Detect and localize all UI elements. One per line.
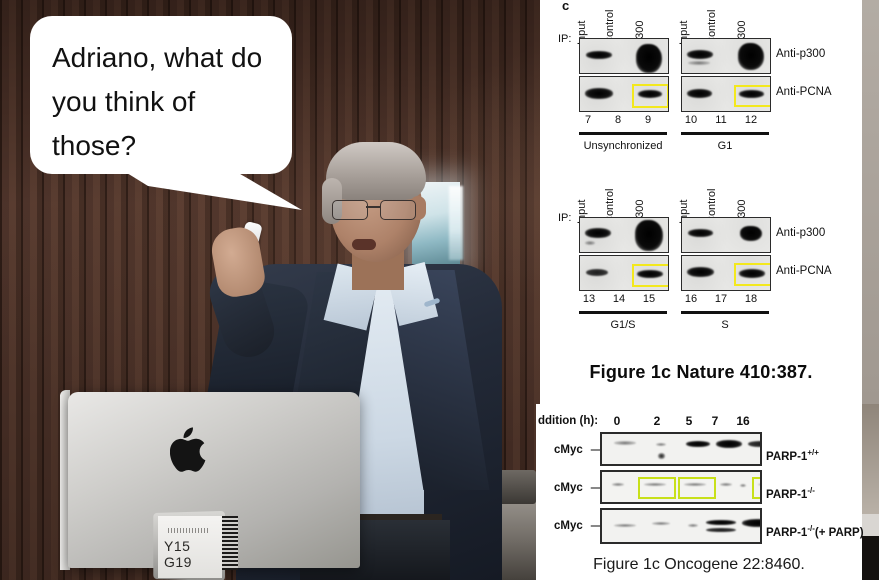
genotype-sup-rescue: -/-: [807, 524, 815, 533]
oncogene-figure-caption: Figure 1c Oncogene 22:8460.: [536, 556, 862, 574]
tag-printed-line: [168, 528, 210, 533]
lane-number-17: 17: [712, 293, 730, 305]
photo-right-rail-dark: [862, 536, 879, 580]
screenshot-root: Y15 G19 Adriano, what do you think of th…: [0, 0, 879, 580]
genotype-sup-ko: -/-: [807, 486, 815, 495]
genotype-label-wt: PARP-1+/+: [766, 448, 819, 463]
probe-label-cmyc-row3: cMyc: [554, 520, 583, 532]
eyeglass-bridge: [366, 206, 380, 208]
probe-label-cmyc-row2: cMyc: [554, 482, 583, 494]
eyeglasses: [332, 200, 420, 218]
genotype-sup-wt: +/+: [807, 448, 819, 457]
timepoint-0: 0: [610, 414, 624, 428]
lane-number-11: 11: [712, 114, 730, 126]
oncogene-figure-slide: ddition (h): 0 2 5 7 16 cMyc ⟶ PARP-1+/+…: [536, 404, 862, 580]
group-bar-s: [681, 311, 769, 314]
photo-right-rail-mid: [862, 404, 879, 514]
lane-number-13: 13: [580, 293, 598, 305]
lane-number-12: 12: [742, 114, 760, 126]
phase-label-unsynchronized: Unsynchronized: [573, 140, 673, 152]
group-bar-g1: [681, 132, 769, 135]
eyeglass-lens-left: [332, 200, 368, 220]
ip-label-row2: IP:: [558, 212, 571, 224]
group-bar-unsync: [579, 132, 667, 135]
highlight-box-lane18: [734, 263, 771, 286]
gel-s-antipcna: [681, 255, 771, 291]
group-bar-g1s: [579, 311, 667, 314]
lane-number-18: 18: [742, 293, 760, 305]
gel-parp-ko: [600, 470, 762, 504]
gel-parp-rescue: [600, 508, 762, 544]
lane-number-8: 8: [610, 114, 626, 126]
gel-g1-antip300: [681, 38, 771, 74]
antibody-label-pcna-row1: Anti-PCNA: [776, 86, 832, 98]
gel-g1s-antipcna: [579, 255, 669, 291]
timepoint-5: 5: [682, 414, 696, 428]
phase-label-g1: G1: [681, 140, 769, 152]
genotype-base-rescue: PARP-1: [766, 527, 807, 539]
timepoint-7: 7: [708, 414, 722, 428]
antibody-label-p300-row2: Anti-p300: [776, 227, 825, 239]
phase-label-s: S: [681, 319, 769, 331]
gel-unsync-antipcna: [579, 76, 669, 112]
highlight-box-ko-3: [752, 477, 762, 499]
lane-number-7: 7: [580, 114, 596, 126]
highlight-box-ko-1: [638, 477, 676, 499]
lane-number-15: 15: [640, 293, 658, 305]
eyeglass-lens-right: [380, 200, 416, 220]
gel-parp-wt: [600, 432, 762, 466]
photo-right-rail-upper: [862, 0, 879, 404]
lane-number-14: 14: [610, 293, 628, 305]
barcode-strip: [222, 516, 238, 570]
gel-g1-antipcna: [681, 76, 771, 112]
lane-number-16: 16: [682, 293, 700, 305]
ip-label-row1: IP:: [558, 33, 571, 45]
lane-number-9: 9: [640, 114, 656, 126]
timepoint-2: 2: [650, 414, 664, 428]
genotype-label-rescue: PARP-1-/-(+ PARP): [766, 524, 864, 539]
photo-right-rail-light: [862, 514, 879, 536]
inventory-tag-code: Y15 G19: [164, 538, 222, 570]
timepoint-axis-label: ddition (h):: [538, 415, 598, 427]
panel-letter-c: c: [562, 0, 569, 13]
highlight-box-lane9: [632, 84, 669, 108]
presenter-mouth: [352, 239, 376, 250]
apple-logo-icon: [170, 424, 210, 472]
genotype-base-wt: PARP-1: [766, 451, 807, 463]
nature-figure-slide: c IP: Input Control p300 Input Control p…: [540, 0, 862, 404]
highlight-box-lane12: [734, 85, 771, 107]
speech-bubble: Adriano, what do you think of those?: [30, 16, 292, 174]
genotype-tail-rescue: (+ PARP): [815, 527, 864, 539]
gel-unsync-antip300: [579, 38, 669, 74]
genotype-label-ko: PARP-1-/-: [766, 486, 815, 501]
antibody-label-p300-row1: Anti-p300: [776, 48, 825, 60]
inventory-tag: Y15 G19: [158, 516, 222, 578]
phase-label-g1s: G1/S: [579, 319, 667, 331]
backlit-window-highlight: [449, 186, 463, 260]
speech-bubble-text: Adriano, what do you think of those?: [30, 16, 292, 168]
gel-s-antip300: [681, 217, 771, 253]
nature-figure-caption: Figure 1c Nature 410:387.: [540, 362, 862, 383]
timepoint-16: 16: [734, 414, 752, 428]
gel-g1s-antip300: [579, 217, 669, 253]
antibody-label-pcna-row2: Anti-PCNA: [776, 265, 832, 277]
lane-number-10: 10: [682, 114, 700, 126]
highlight-box-ko-2: [678, 477, 716, 499]
highlight-box-lane15: [632, 264, 669, 287]
probe-label-cmyc-row1: cMyc: [554, 444, 583, 456]
genotype-base-ko: PARP-1: [766, 489, 807, 501]
